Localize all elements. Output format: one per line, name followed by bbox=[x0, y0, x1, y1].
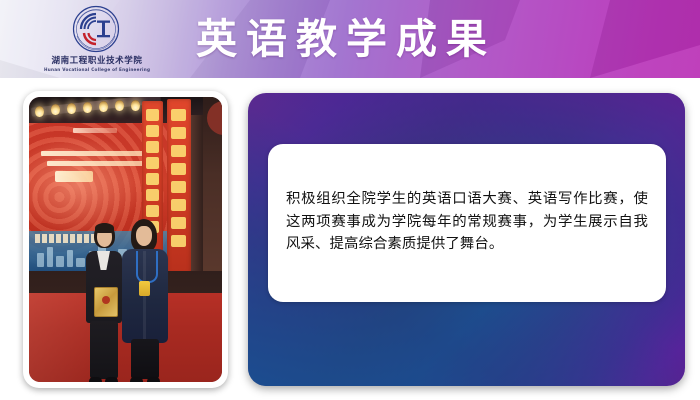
backdrop-big-title bbox=[55, 171, 93, 182]
id-badge bbox=[139, 281, 150, 296]
backdrop-text-line bbox=[41, 151, 157, 156]
college-logo: 湖南工程职业技术学院 Hunan Vocational College of E… bbox=[44, 3, 150, 77]
slide-header: 湖南工程职业技术学院 Hunan Vocational College of E… bbox=[0, 0, 700, 78]
stage-lamp-icon bbox=[115, 100, 124, 111]
stage-lamp-icon bbox=[51, 104, 60, 115]
university-crest-icon bbox=[66, 4, 126, 56]
award-ceremony-photo-card bbox=[23, 91, 228, 388]
stage-lamp-icon bbox=[83, 102, 92, 113]
photo-person-award-recipient bbox=[84, 223, 124, 382]
stage-lamp-icon bbox=[131, 100, 140, 111]
photo-person-teacher bbox=[122, 219, 168, 382]
page-title: 英语教学成果 bbox=[196, 6, 496, 72]
stage-lamp-icon bbox=[99, 101, 108, 112]
stage-lamp-icon bbox=[67, 103, 76, 114]
photo-red-banner bbox=[167, 99, 191, 275]
college-name-en: Hunan Vocational College of Engineering bbox=[44, 67, 150, 73]
stage-lamp-icon bbox=[35, 106, 44, 117]
lanyard-icon bbox=[136, 251, 158, 283]
award-plaque bbox=[94, 287, 118, 317]
backdrop-header-strip bbox=[73, 128, 117, 133]
backdrop-text-line bbox=[47, 161, 151, 166]
award-ceremony-photo bbox=[29, 97, 222, 382]
content-body-text: 积极组织全院学生的英语口语大赛、英语写作比赛，使这两项赛事成为学院每年的常规赛事… bbox=[286, 188, 648, 256]
college-name-cn: 湖南工程职业技术学院 bbox=[44, 56, 150, 66]
